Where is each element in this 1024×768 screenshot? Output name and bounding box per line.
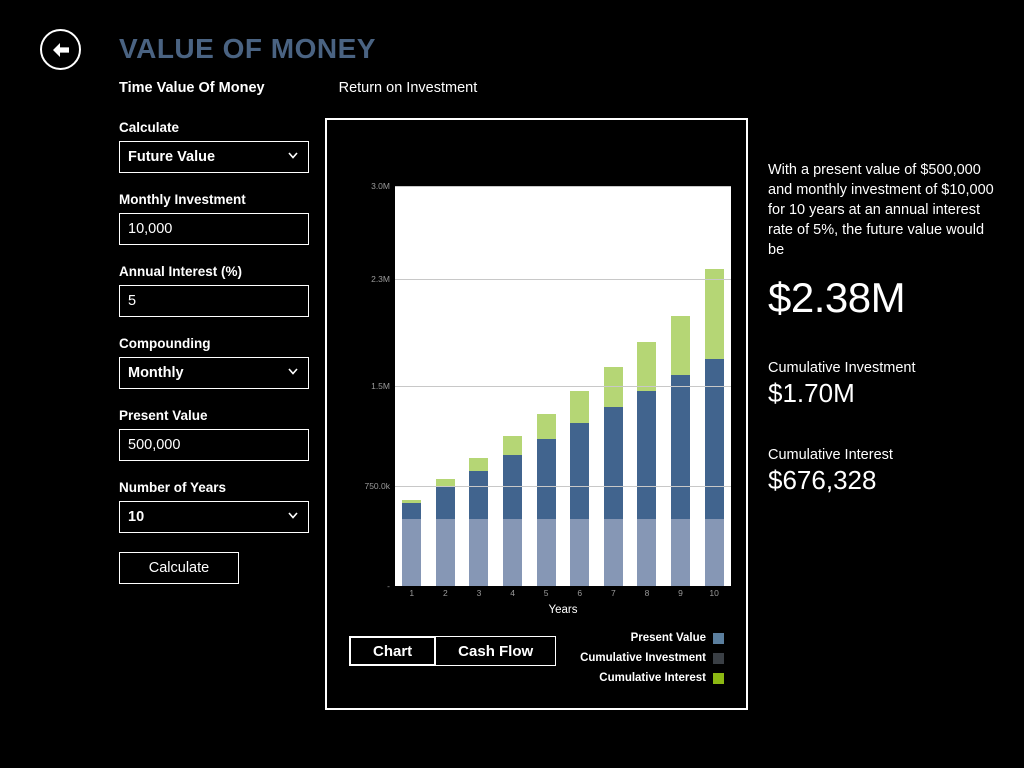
chevron-down-icon bbox=[286, 364, 300, 383]
bar-segment bbox=[402, 519, 421, 586]
x-axis-tick: 9 bbox=[664, 588, 698, 598]
gridline bbox=[395, 386, 731, 387]
calculate-label: Calculate bbox=[119, 120, 309, 135]
field-group-monthly-investment: Monthly Investment10,000 bbox=[119, 192, 309, 245]
tab-return-on-investment[interactable]: Return on Investment bbox=[339, 80, 478, 96]
cumulative-investment-value: $1.70M bbox=[768, 378, 1003, 409]
bar-segment bbox=[671, 519, 690, 586]
field-group-compounding: CompoundingMonthly bbox=[119, 336, 309, 389]
tab-time-value-of-money[interactable]: Time Value Of Money bbox=[119, 80, 265, 96]
field-group-present-value: Present Value500,000 bbox=[119, 408, 309, 461]
bar-segment bbox=[436, 519, 455, 586]
toggle-cash-flow[interactable]: Cash Flow bbox=[436, 636, 556, 666]
stacked-bar bbox=[637, 342, 656, 586]
monthly-investment-input[interactable]: 10,000 bbox=[119, 213, 309, 245]
bar-segment bbox=[570, 519, 589, 586]
present-value-label: Present Value bbox=[119, 408, 309, 423]
y-axis-tick: 750.0k bbox=[364, 481, 390, 491]
x-axis-tick: 5 bbox=[529, 588, 563, 598]
legend-label: Cumulative Investment bbox=[580, 652, 706, 664]
y-axis-labels: -750.0k1.5M2.3M3.0M bbox=[355, 186, 392, 590]
cumulative-investment-block: Cumulative Investment $1.70M bbox=[768, 360, 1003, 409]
x-axis-labels: 12345678910 bbox=[395, 588, 731, 598]
page-title: VALUE OF MONEY bbox=[119, 33, 376, 65]
x-axis-tick: 6 bbox=[563, 588, 597, 598]
stacked-bar bbox=[537, 414, 556, 586]
bar-segment bbox=[537, 439, 556, 519]
x-axis-tick: 8 bbox=[630, 588, 664, 598]
bar-segment bbox=[604, 407, 623, 519]
cumulative-interest-label: Cumulative Interest bbox=[768, 447, 1003, 463]
compounding-select[interactable]: Monthly bbox=[119, 357, 309, 389]
y-axis-tick: - bbox=[387, 581, 390, 591]
bar-segment bbox=[637, 391, 656, 519]
bar-segment bbox=[604, 519, 623, 586]
monthly-investment-label: Monthly Investment bbox=[119, 192, 309, 207]
bar-segment bbox=[671, 316, 690, 376]
calculate-button[interactable]: Calculate bbox=[119, 552, 239, 584]
legend-item: Cumulative Investment bbox=[580, 652, 724, 664]
present-value-value: 500,000 bbox=[128, 437, 300, 453]
number-of-years-select[interactable]: 10 bbox=[119, 501, 309, 533]
bar-segment bbox=[637, 519, 656, 586]
cumulative-investment-label: Cumulative Investment bbox=[768, 360, 1003, 376]
stacked-bar bbox=[503, 436, 522, 586]
x-axis-tick: 2 bbox=[429, 588, 463, 598]
gridline bbox=[395, 279, 731, 280]
legend-label: Present Value bbox=[631, 632, 706, 644]
gridline bbox=[395, 186, 731, 187]
bar-segment bbox=[637, 342, 656, 392]
annual-interest-label: Annual Interest (%) bbox=[119, 264, 309, 279]
bar-segment bbox=[570, 391, 589, 424]
bar-segment bbox=[705, 359, 724, 519]
legend-swatch bbox=[713, 633, 724, 644]
cumulative-interest-block: Cumulative Interest $676,328 bbox=[768, 447, 1003, 496]
bar-segment bbox=[469, 471, 488, 519]
calculator-form: CalculateFuture ValueMonthly Investment1… bbox=[119, 120, 309, 584]
y-axis-tick: 1.5M bbox=[371, 381, 390, 391]
legend-label: Cumulative Interest bbox=[599, 672, 706, 684]
x-axis-tick: 4 bbox=[496, 588, 530, 598]
bar-segment bbox=[537, 519, 556, 586]
chevron-down-icon bbox=[286, 508, 300, 527]
legend-swatch bbox=[713, 673, 724, 684]
plot-container: -750.0k1.5M2.3M3.0M 12345678910 Years bbox=[355, 186, 745, 590]
chart-legend: Present ValueCumulative InvestmentCumula… bbox=[580, 632, 724, 692]
x-axis-title: Years bbox=[395, 604, 731, 616]
bar-segment bbox=[705, 269, 724, 359]
stacked-bar bbox=[570, 391, 589, 586]
stacked-bar bbox=[436, 479, 455, 586]
chevron-down-icon bbox=[286, 148, 300, 167]
x-axis-tick: 7 bbox=[597, 588, 631, 598]
cumulative-interest-value: $676,328 bbox=[768, 465, 1003, 496]
stacked-bar bbox=[604, 367, 623, 586]
tab-bar: Time Value Of Money Return on Investment bbox=[119, 80, 477, 96]
stacked-bar bbox=[705, 269, 724, 586]
gridline bbox=[395, 486, 731, 487]
bar-segment bbox=[402, 503, 421, 519]
bar-segment bbox=[705, 519, 724, 586]
bar-segment bbox=[469, 458, 488, 471]
app-root: VALUE OF MONEY Time Value Of Money Retur… bbox=[0, 0, 1024, 768]
stacked-bar bbox=[469, 458, 488, 586]
bar-segment bbox=[671, 375, 690, 519]
future-value-amount: $2.38M bbox=[768, 274, 1003, 322]
x-axis-tick: 1 bbox=[395, 588, 429, 598]
back-button[interactable] bbox=[40, 29, 81, 70]
x-axis-tick: 10 bbox=[697, 588, 731, 598]
field-group-number-of-years: Number of Years10 bbox=[119, 480, 309, 533]
view-toggle-group: Chart Cash Flow bbox=[349, 636, 556, 666]
bar-segment bbox=[503, 455, 522, 519]
bar-segment bbox=[469, 519, 488, 586]
results-panel: With a present value of $500,000 and mon… bbox=[768, 160, 1003, 496]
annual-interest-input[interactable]: 5 bbox=[119, 285, 309, 317]
monthly-investment-value: 10,000 bbox=[128, 221, 300, 237]
legend-item: Present Value bbox=[580, 632, 724, 644]
summary-text: With a present value of $500,000 and mon… bbox=[768, 160, 1003, 260]
number-of-years-label: Number of Years bbox=[119, 480, 309, 495]
stacked-bar bbox=[402, 500, 421, 586]
calculate-select[interactable]: Future Value bbox=[119, 141, 309, 173]
number-of-years-value: 10 bbox=[128, 509, 286, 525]
bar-segment bbox=[503, 436, 522, 455]
back-arrow-icon bbox=[50, 41, 72, 59]
toggle-chart[interactable]: Chart bbox=[349, 636, 436, 666]
stacked-bar bbox=[671, 316, 690, 586]
y-axis-tick: 3.0M bbox=[371, 181, 390, 191]
present-value-input[interactable]: 500,000 bbox=[119, 429, 309, 461]
annual-interest-value: 5 bbox=[128, 293, 300, 309]
plot-area bbox=[395, 186, 731, 586]
calculate-value: Future Value bbox=[128, 149, 286, 165]
y-axis-tick: 2.3M bbox=[371, 274, 390, 284]
legend-swatch bbox=[713, 653, 724, 664]
bar-segment bbox=[503, 519, 522, 586]
chart-panel: -750.0k1.5M2.3M3.0M 12345678910 Years Ch… bbox=[325, 118, 748, 710]
field-group-annual-interest: Annual Interest (%)5 bbox=[119, 264, 309, 317]
bar-segment bbox=[537, 414, 556, 439]
compounding-label: Compounding bbox=[119, 336, 309, 351]
bar-segment bbox=[436, 487, 455, 519]
compounding-value: Monthly bbox=[128, 365, 286, 381]
legend-item: Cumulative Interest bbox=[580, 672, 724, 684]
bar-segment bbox=[570, 423, 589, 519]
x-axis-tick: 3 bbox=[462, 588, 496, 598]
field-group-calculate: CalculateFuture Value bbox=[119, 120, 309, 173]
